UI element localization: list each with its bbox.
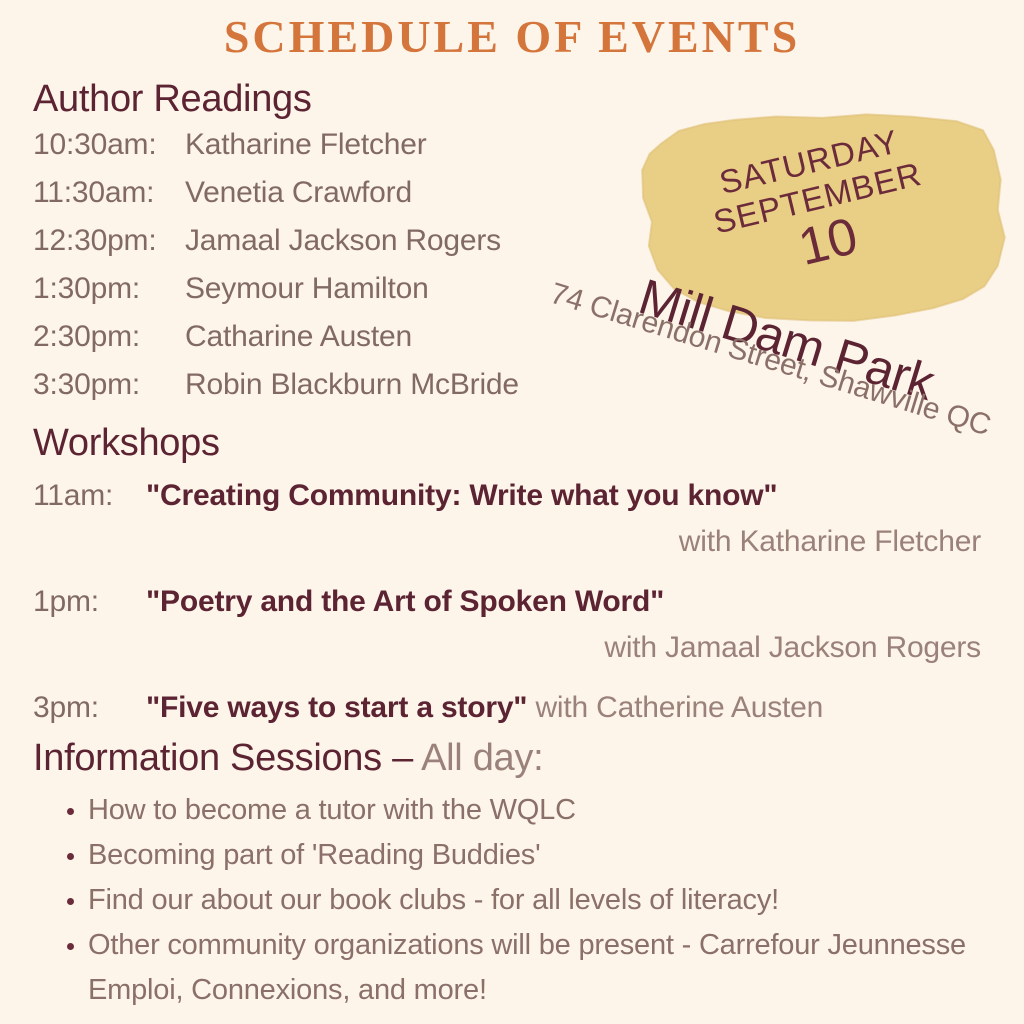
list-item: How to become a tutor with the WQLC (33, 788, 973, 833)
author-readings-heading: Author Readings (33, 78, 312, 121)
workshop-presenter: with Catherine Austen (535, 691, 823, 724)
list-item: Becoming part of 'Reading Buddies' (33, 833, 973, 878)
workshop-line: 1pm:"Poetry and the Art of Spoken Word" (33, 580, 991, 624)
list-item: 11am:"Creating Community: Write what you… (33, 474, 991, 566)
bullet-icon (67, 808, 74, 815)
event-poster: SCHEDULE OF EVENTS Author Readings 10:30… (0, 0, 1024, 1024)
reading-author: Katharine Fletcher (185, 128, 653, 162)
list-item-label: Becoming part of 'Reading Buddies' (88, 839, 540, 871)
reading-author: Robin Blackburn McBride (185, 368, 653, 402)
workshop-time: 3pm: (33, 686, 146, 730)
workshop-line: 11am:"Creating Community: Write what you… (33, 474, 991, 518)
reading-time: 1:30pm: (33, 272, 185, 306)
workshop-time: 11am: (33, 474, 146, 518)
information-sessions-heading: Information Sessions – All day: (33, 737, 543, 780)
information-sessions-label: Information Sessions – (33, 737, 413, 779)
list-item: 11:30am: Venetia Crawford (33, 176, 653, 224)
bullet-icon (67, 853, 74, 860)
reading-time: 12:30pm: (33, 224, 185, 258)
page-title: SCHEDULE OF EVENTS (0, 14, 1024, 60)
list-item: 1pm:"Poetry and the Art of Spoken Word" … (33, 580, 991, 672)
information-sessions-list: How to become a tutor with the WQLC Beco… (33, 788, 973, 1013)
list-item: Other community organizations will be pr… (33, 923, 973, 1013)
list-item: 2:30pm: Catharine Austen (33, 320, 653, 368)
bullet-icon (67, 943, 74, 950)
reading-time: 2:30pm: (33, 320, 185, 354)
list-item: 10:30am: Katharine Fletcher (33, 128, 653, 176)
list-item: Find our about our book clubs - for all … (33, 878, 973, 923)
workshops-heading: Workshops (33, 422, 220, 465)
workshop-presenter: with Katharine Fletcher (33, 518, 991, 566)
list-item: 12:30pm: Jamaal Jackson Rogers (33, 224, 653, 272)
reading-author: Jamaal Jackson Rogers (185, 224, 653, 258)
workshop-title: "Five ways to start a story" (146, 691, 527, 724)
list-item-label: How to become a tutor with the WQLC (88, 794, 576, 826)
workshop-title: "Poetry and the Art of Spoken Word" (146, 585, 664, 618)
list-item-label: Find our about our book clubs - for all … (88, 884, 779, 916)
bullet-icon (67, 898, 74, 905)
workshops-list: 11am:"Creating Community: Write what you… (33, 474, 991, 744)
reading-time: 3:30pm: (33, 368, 185, 402)
workshop-time: 1pm: (33, 580, 146, 624)
author-readings-list: 10:30am: Katharine Fletcher 11:30am: Ven… (33, 128, 653, 416)
information-sessions-allday: All day: (421, 737, 543, 779)
workshop-title: "Creating Community: Write what you know… (146, 479, 777, 512)
reading-time: 11:30am: (33, 176, 185, 210)
reading-author: Catharine Austen (185, 320, 653, 354)
workshop-line: 3pm:"Five ways to start a story" with Ca… (33, 686, 991, 730)
list-item: 3:30pm: Robin Blackburn McBride (33, 368, 653, 416)
list-item: 3pm:"Five ways to start a story" with Ca… (33, 686, 991, 730)
workshop-presenter: with Jamaal Jackson Rogers (33, 624, 991, 672)
list-item-label: Other community organizations will be pr… (88, 929, 966, 1006)
reading-time: 10:30am: (33, 128, 185, 162)
reading-author: Venetia Crawford (185, 176, 653, 210)
